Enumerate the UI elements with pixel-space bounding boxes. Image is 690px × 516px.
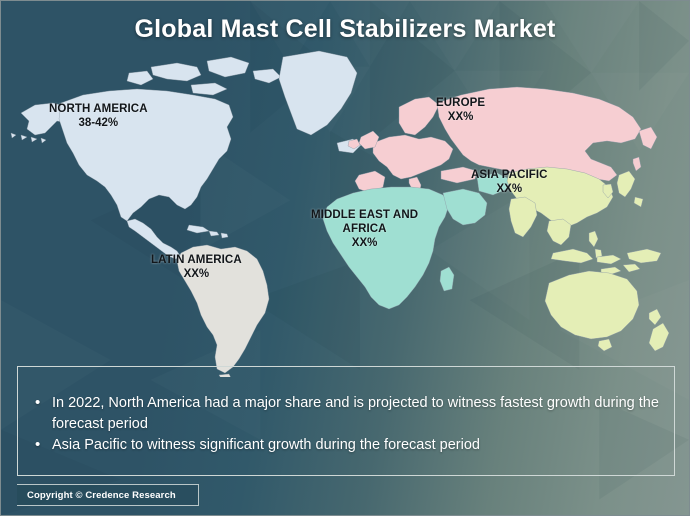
insights-panel: In 2022, North America had a major share…: [17, 366, 675, 476]
region-name-middle-east-africa-line1: MIDDLE EAST AND: [311, 208, 418, 222]
infographic-root: Global Mast Cell Stabilizers Market NORT…: [0, 0, 690, 516]
insight-bullet-2: Asia Pacific to witness significant grow…: [32, 435, 660, 456]
copyright-bar: Copyright © Credence Research: [17, 484, 199, 506]
region-value-asia-pacific: XX%: [471, 182, 548, 196]
region-name-middle-east-africa-line2: AFRICA: [311, 222, 418, 236]
region-label-middle-east-africa: MIDDLE EAST AND AFRICA XX%: [311, 208, 418, 250]
copyright-text: Copyright © Credence Research: [27, 490, 176, 501]
region-label-north-america: NORTH AMERICA 38-42%: [49, 102, 148, 130]
region-value-middle-east-africa: XX%: [311, 236, 418, 250]
region-name-europe: EUROPE: [436, 96, 485, 110]
region-label-latin-america: LATIN AMERICA XX%: [151, 253, 242, 281]
page-title: Global Mast Cell Stabilizers Market: [1, 15, 689, 44]
region-name-latin-america: LATIN AMERICA: [151, 253, 242, 267]
region-name-north-america: NORTH AMERICA: [49, 102, 148, 116]
region-value-latin-america: XX%: [151, 267, 242, 281]
region-value-north-america: 38-42%: [49, 116, 148, 130]
region-value-europe: XX%: [436, 110, 485, 124]
region-label-europe: EUROPE XX%: [436, 96, 485, 124]
insight-bullet-1: In 2022, North America had a major share…: [32, 393, 660, 434]
map-region-north-america: [11, 51, 361, 259]
insights-list: In 2022, North America had a major share…: [32, 393, 660, 456]
region-label-asia-pacific: ASIA PACIFIC XX%: [471, 168, 548, 196]
region-name-asia-pacific: ASIA PACIFIC: [471, 168, 548, 182]
